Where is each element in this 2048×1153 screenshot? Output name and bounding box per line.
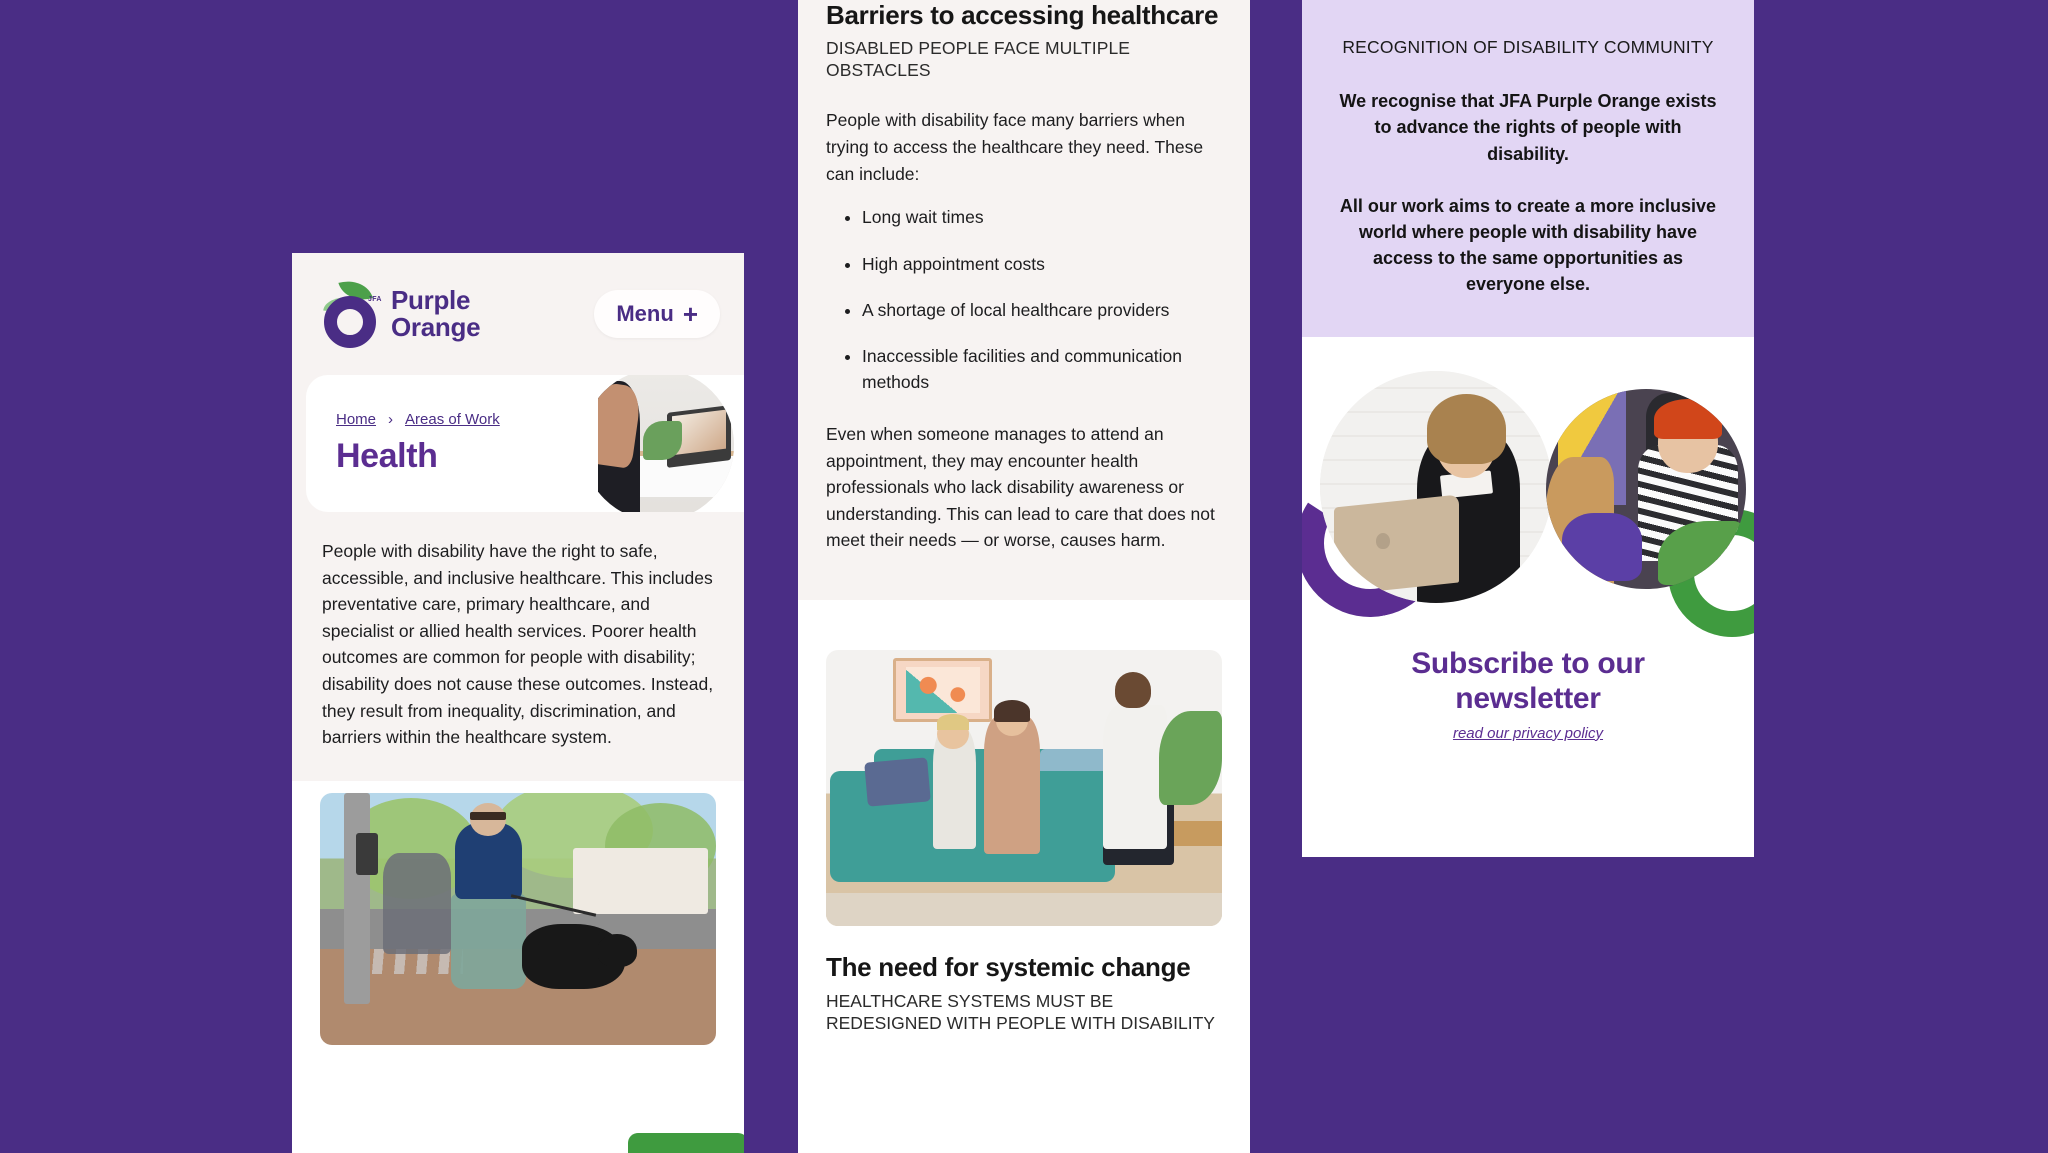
newsletter-title: Subscribe to our newsletter [1302,647,1754,717]
green-cta-button[interactable] [628,1133,744,1153]
collage-photo-laptop [1320,371,1552,603]
newsletter-section: Subscribe to our newsletter read our pri… [1302,337,1754,857]
list-item: Long wait times [862,205,1222,230]
hero-thumbnail [598,375,744,512]
recognition-statement-1: We recognise that JFA Purple Orange exis… [1336,88,1720,166]
barriers-heading: Barriers to accessing healthcare [826,0,1222,31]
page-hero-card: Home › Areas of Work Health [306,375,744,512]
barriers-kicker: DISABLED PEOPLE FACE MULTIPLE OBSTACLES [826,38,1222,82]
chevron-right-icon: › [388,411,393,428]
left-panel: JFA Purple Orange Menu + Home › Areas of… [292,253,744,1153]
collage-photo-group [1546,389,1746,589]
logo-jfa-badge: JFA [368,296,382,303]
logo-word-orange: Orange [391,314,480,341]
purple-orange-logo-icon: JFA [320,280,380,348]
list-item: High appointment costs [862,252,1222,277]
middle-panel: Barriers to accessing healthcare DISABLE… [798,0,1250,1153]
logo-wordmark: Purple Orange [391,287,480,341]
section-divider [798,600,1250,612]
hero-thumbnail-image [598,375,734,512]
site-header: JFA Purple Orange Menu + [292,253,744,375]
list-item: Inaccessible facilities and communicatio… [862,344,1222,395]
barriers-list: Long wait times High appointment costs A… [826,205,1222,395]
menu-button[interactable]: Menu + [594,290,720,338]
systemic-change-kicker: HEALTHCARE SYSTEMS MUST BE REDESIGNED WI… [826,990,1222,1035]
breadcrumb-areas-of-work[interactable]: Areas of Work [405,411,500,428]
hero-text: Home › Areas of Work Health [306,411,598,476]
guide-dog-street-photo [320,793,716,1045]
systemic-change-section: The need for systemic change HEALTHCARE … [798,612,1250,1035]
recognition-kicker: RECOGNITION OF DISABILITY COMMUNITY [1336,36,1720,58]
privacy-policy-link[interactable]: read our privacy policy [1453,725,1603,742]
site-logo[interactable]: JFA Purple Orange [320,280,480,348]
consultation-photo [826,650,1222,926]
breadcrumb-home[interactable]: Home [336,411,376,428]
plus-icon: + [683,301,698,327]
barriers-section: Barriers to accessing healthcare DISABLE… [798,0,1250,600]
page-title: Health [336,437,598,476]
right-panel: RECOGNITION OF DISABILITY COMMUNITY We r… [1302,0,1754,900]
left-photo-section [292,781,744,1153]
barriers-paragraph: People with disability face many barrier… [826,107,1222,187]
menu-button-label: Menu [616,301,673,327]
barriers-paragraph-2: Even when someone manages to attend an a… [826,421,1222,554]
systemic-change-heading: The need for systemic change [826,952,1222,983]
orange-ring-icon [324,296,376,348]
breadcrumb: Home › Areas of Work [336,411,598,428]
photo-collage [1302,337,1754,647]
list-item: A shortage of local healthcare providers [862,298,1222,323]
page-root: JFA Purple Orange Menu + Home › Areas of… [0,0,2048,1153]
recognition-section: RECOGNITION OF DISABILITY COMMUNITY We r… [1302,0,1754,337]
logo-word-purple: Purple [391,287,480,314]
intro-paragraph: People with disability have the right to… [292,512,744,781]
recognition-statement-2: All our work aims to create a more inclu… [1336,193,1720,297]
